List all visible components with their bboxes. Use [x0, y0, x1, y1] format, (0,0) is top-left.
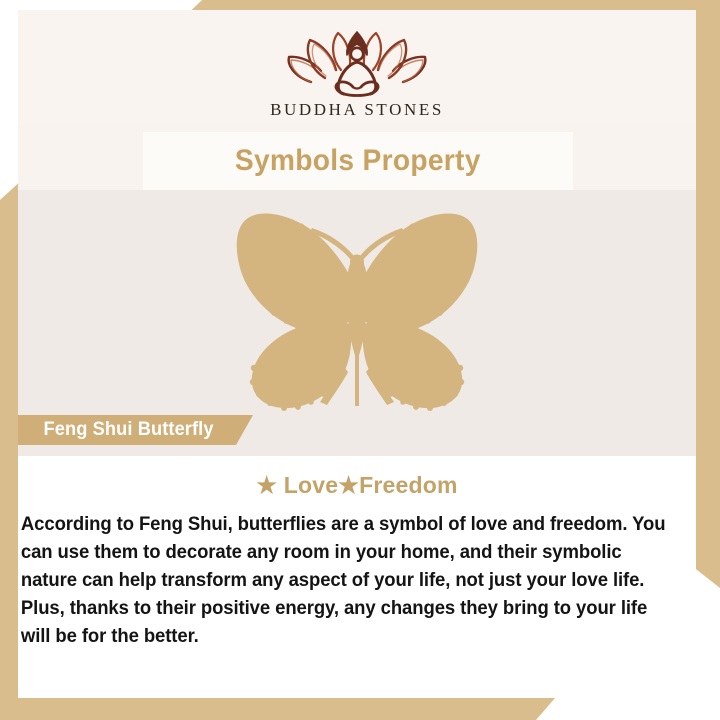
monarch-butterfly-icon: [192, 202, 522, 417]
love-freedom-subheading: ★ Love★Freedom: [18, 472, 696, 499]
description-text: According to Feng Shui, butterflies are …: [18, 511, 672, 651]
lotus-meditation-icon: [281, 26, 433, 98]
brand-header: BUDDHA STONES: [18, 10, 696, 125]
brand-name: BUDDHA STONES: [18, 100, 696, 120]
title-banner: Symbols Property: [143, 132, 573, 190]
butterfly-illustration-wrap: [18, 202, 696, 422]
description-panel: ★ Love★Freedom According to Feng Shui, b…: [18, 456, 696, 698]
page-title: Symbols Property: [235, 144, 481, 178]
feng-shui-butterfly-tag: Feng Shui Butterfly: [18, 415, 253, 445]
brand-logo-block: BUDDHA STONES: [18, 26, 696, 120]
content-card: BUDDHA STONES Symbols Property: [18, 10, 696, 698]
tag-label: Feng Shui Butterfly: [44, 419, 214, 441]
frame-ribbon-right: [692, 0, 720, 588]
promo-graphic: BUDDHA STONES Symbols Property: [0, 0, 720, 720]
